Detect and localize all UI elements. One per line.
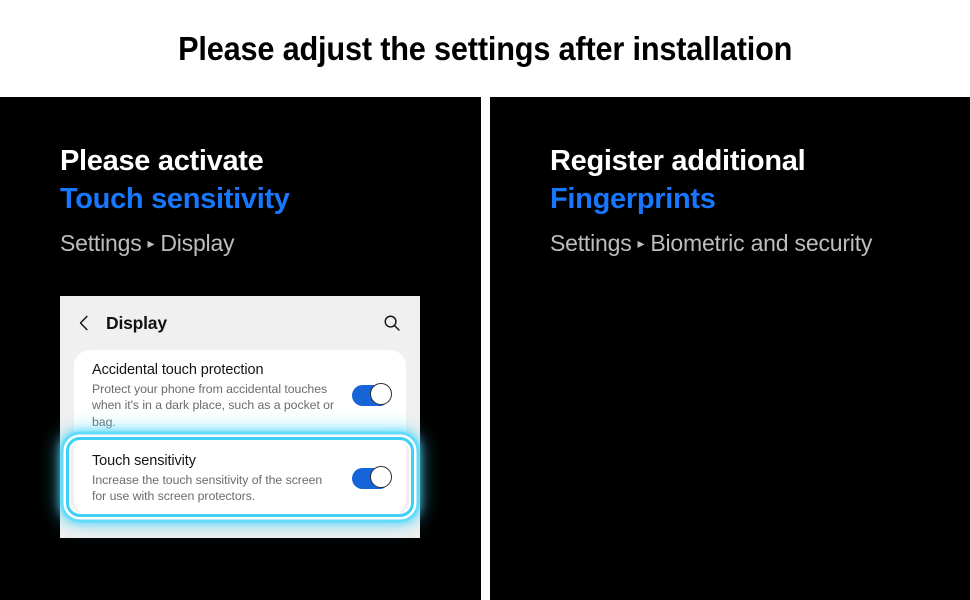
panel-left-text-block: Please activate Touch sensitivity Settin… (0, 142, 481, 257)
panel-divider (481, 97, 490, 600)
toggle-knob (370, 466, 392, 488)
panel-right-heading-line1: Register additional (550, 142, 970, 180)
toggle-touch-sensitivity[interactable] (352, 468, 390, 489)
breadcrumb-separator-icon: ▸ (142, 235, 161, 251)
page-title: Please adjust the settings after install… (178, 30, 792, 68)
row-subtitle: Protect your phone from accidental touch… (92, 381, 338, 430)
phone-screenshot-display: Display Accidental touch protection Prot… (60, 296, 420, 538)
toggle-knob (370, 383, 392, 405)
row-title: Touch sensitivity (92, 452, 338, 470)
search-icon[interactable] (382, 313, 402, 333)
panel-right-text-block: Register additional Fingerprints Setting… (490, 142, 970, 257)
panel-left-heading-line1: Please activate (60, 142, 481, 180)
breadcrumb-separator-icon: ▸ (632, 235, 651, 251)
breadcrumb-root: Settings (550, 230, 632, 256)
panel-fingerprints: Register additional Fingerprints Setting… (490, 97, 970, 600)
panel-left-heading-line2: Touch sensitivity (60, 180, 481, 218)
panel-container: Please activate Touch sensitivity Settin… (0, 97, 970, 600)
breadcrumb-left: Settings▸Display (60, 230, 481, 257)
back-chevron-icon[interactable] (74, 313, 94, 333)
list-item[interactable]: Touch sensitivity Increase the touch sen… (74, 441, 406, 516)
breadcrumb-leaf: Biometric and security (650, 230, 872, 256)
breadcrumb-leaf: Display (160, 230, 234, 256)
row-subtitle: Increase the touch sensitivity of the sc… (92, 472, 338, 504)
phone-header-left: Display (60, 296, 420, 350)
toggle-accidental-touch-protection[interactable] (352, 385, 390, 406)
banner: Please adjust the settings after install… (0, 0, 970, 97)
list-item[interactable]: Accidental touch protection Protect your… (74, 350, 406, 441)
breadcrumb-right: Settings▸Biometric and security (550, 230, 970, 257)
row-title: Accidental touch protection (92, 361, 338, 379)
settings-list-left: Accidental touch protection Protect your… (74, 350, 406, 515)
panel-touch-sensitivity: Please activate Touch sensitivity Settin… (0, 97, 481, 600)
breadcrumb-root: Settings (60, 230, 142, 256)
row-text: Touch sensitivity Increase the touch sen… (92, 452, 338, 505)
phone-header-title-left: Display (106, 313, 167, 334)
row-text: Accidental touch protection Protect your… (92, 361, 338, 430)
panel-right-heading-line2: Fingerprints (550, 180, 970, 218)
